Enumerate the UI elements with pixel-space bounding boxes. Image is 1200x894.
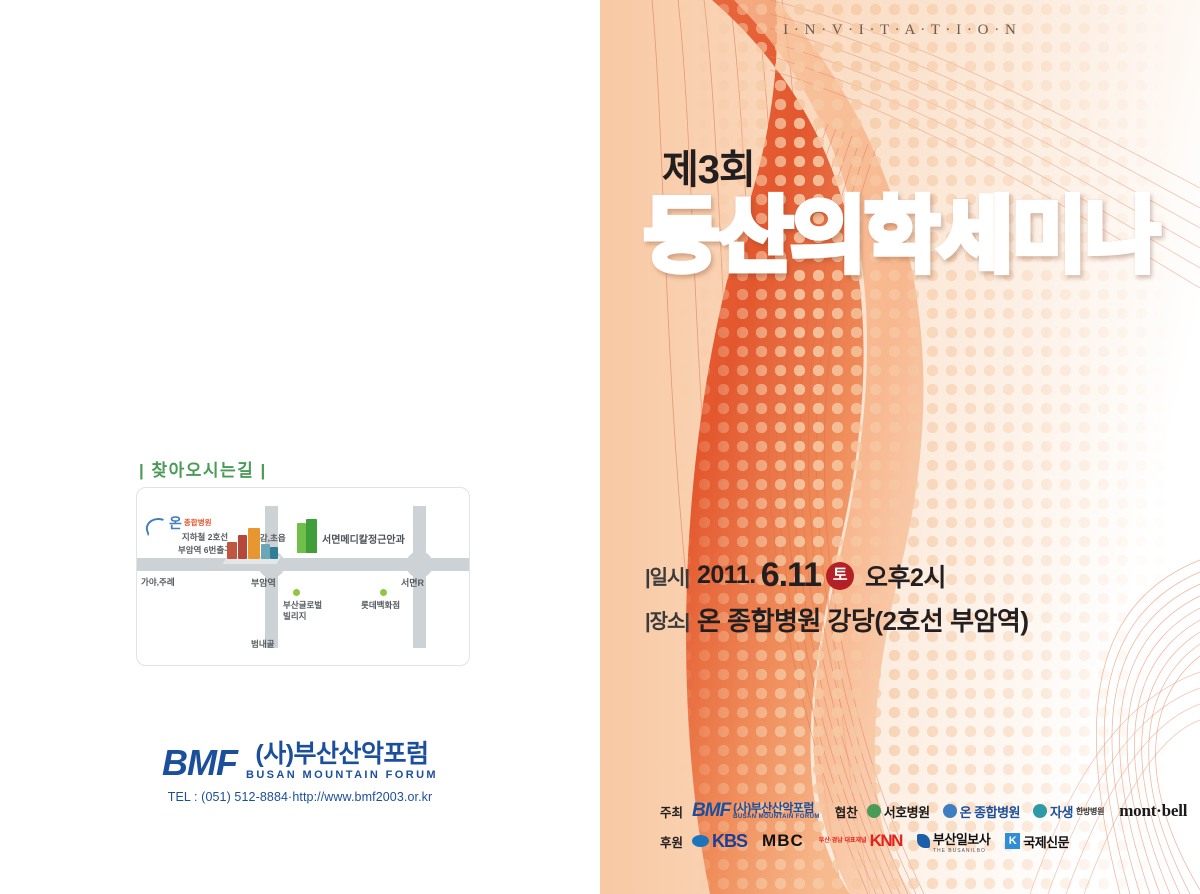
logo-bmf-kr: (사)부산산악포럼 <box>733 802 820 814</box>
event-date-line: |일시| 2011. 6.11 토 오후2시 <box>645 556 1200 595</box>
poi-label-lotte: 롯데백화점 <box>361 600 400 611</box>
logo-knn: 부산·경남 대표재널 KNN <box>819 831 902 851</box>
halftone-dot-pattern <box>600 0 1200 894</box>
event-year: 2011. <box>697 561 756 590</box>
event-date-value: 2011. 6.11 토 오후2시 <box>697 556 946 595</box>
swoosh-icon <box>145 516 167 530</box>
logo-mbc: MBC <box>762 831 804 851</box>
intersection-seomyeon <box>406 551 433 578</box>
logo-busanilbo-sub: THE BUSANILBO <box>933 848 990 854</box>
logo-bmf: BMF (사)부산산악포럼 BUSAN MOUNTAIN FORUM <box>692 800 820 822</box>
bmf-mark: BMF <box>162 745 237 781</box>
bmf-name-en: BUSAN MOUNTAIN FORUM <box>246 770 438 781</box>
logo-bmf-en: BUSAN MOUNTAIN FORUM <box>733 814 820 820</box>
poi-label-eye-clinic: 서면메디칼정근안과 <box>322 531 405 546</box>
hospital-logo-name: 온 <box>169 516 182 530</box>
kookje-k-icon: K <box>1005 833 1020 849</box>
bmf-logo: BMF (사)부산산악포럼 BUSAN MOUNTAIN FORUM <box>162 742 438 781</box>
event-date-label: |일시| <box>645 561 689 590</box>
logo-kbs: KBS <box>692 831 747 852</box>
location-map: 당감,초읍 가야,주례 부암역 서면R 범내골 부산글로벌 빌리지 롯데백화점 … <box>136 487 470 666</box>
logo-seoho-name: 서호병원 <box>884 802 930 821</box>
poi-label-busan-global-line2: 빌리지 <box>283 611 322 622</box>
green-building-icon <box>297 519 317 553</box>
logo-seoho: 서호병원 <box>867 802 930 821</box>
support-label: 후원 <box>660 832 683 851</box>
map-label-center: 부암역 <box>251 576 276 589</box>
poi-marker-busan-global <box>293 589 300 596</box>
back-cover-footer: BMF (사)부산산악포럼 BUSAN MOUNTAIN FORUM TEL :… <box>0 742 600 804</box>
hospital-logo-sub: 종합병원 <box>184 519 212 527</box>
poi-label-busan-global-line1: 부산글로벌 <box>283 600 322 611</box>
bmf-contact: TEL : (051) 512-8884·http://www.bmf2003.… <box>0 790 600 804</box>
logo-kbs-name: KBS <box>712 831 747 852</box>
bmf-names: (사)부산산악포럼 BUSAN MOUNTAIN FORUM <box>246 742 438 781</box>
on-swoosh-icon <box>943 804 957 818</box>
logo-busanilbo: 부산일보사 THE BUSANILBO <box>917 829 990 854</box>
kbs-oval-icon <box>692 835 709 847</box>
busanilbo-mark-icon <box>917 834 930 848</box>
seoho-leaf-icon <box>867 804 881 818</box>
logo-knn-sub: 부산·경남 대표재널 <box>819 838 867 844</box>
directions-heading: | 찾아오시는길 | <box>139 456 267 481</box>
logo-jaseng-name: 자생 <box>1050 802 1073 821</box>
event-time: 오후2시 <box>865 558 946 594</box>
event-place-value: 온 종합병원 강당(2호선 부암역) <box>697 601 1029 638</box>
logo-kookje-name: 국제신문 <box>1023 832 1069 851</box>
map-label-west: 가야,주례 <box>141 576 175 588</box>
logo-montbell: mont·bell <box>1119 801 1187 821</box>
brochure-sheet: | 찾아오시는길 | 당감,초읍 가야,주례 부암역 서면R 범내골 부산글로벌… <box>0 0 1200 894</box>
logo-busanilbo-name: 부산일보사 <box>933 829 990 848</box>
logo-kookje: K 국제신문 <box>1005 832 1069 851</box>
bmf-name-kr: (사)부산산악포럼 <box>246 742 438 767</box>
logo-bmf-mark: BMF <box>692 800 730 822</box>
event-place-line: |장소| 온 종합병원 강당(2호선 부암역) <box>645 601 1200 638</box>
event-info-block: |일시| 2011. 6.11 토 오후2시 |장소| 온 종합병원 강당(2호… <box>600 556 1200 644</box>
invitation-header: I · N · V · I · T · A · T · I · O · N <box>620 22 1180 39</box>
cover-title-block: 제3회 등산의학세미나 <box>600 150 1200 280</box>
logo-jaseng: 자생 한방병원 <box>1033 802 1104 821</box>
jaseng-icon <box>1033 804 1047 818</box>
logo-jaseng-sub: 한방병원 <box>1076 806 1104 817</box>
map-label-south: 범내골 <box>251 638 274 650</box>
title-main: 등산의학세미나 <box>644 194 1200 280</box>
back-cover-page: | 찾아오시는길 | 당감,초읍 가야,주례 부암역 서면R 범내골 부산글로벌… <box>0 0 600 894</box>
partner-label: 협찬 <box>835 802 858 821</box>
poi-label-busan-global: 부산글로벌 빌리지 <box>283 600 322 622</box>
poi-marker-lotte <box>380 589 387 596</box>
weekday-badge: 토 <box>826 562 854 590</box>
buildings-cluster-icon <box>225 524 281 564</box>
logo-on-hospital: 온 종합병원 <box>943 802 1020 821</box>
logo-knn-name: KNN <box>870 831 902 851</box>
title-edition: 제3회 <box>662 150 1200 190</box>
sponsor-row-host: 주최 BMF (사)부산산악포럼 BUSAN MOUNTAIN FORUM 협찬… <box>660 796 1200 826</box>
logo-busanilbo-text: 부산일보사 THE BUSANILBO <box>933 829 990 854</box>
sponsor-row-support: 후원 KBS MBC 부산·경남 대표재널 KNN 부산일보사 THE BUSA… <box>660 826 1200 856</box>
sponsor-strip: 주최 BMF (사)부산산악포럼 BUSAN MOUNTAIN FORUM 협찬… <box>600 796 1200 856</box>
event-daymonth: 6.11 <box>761 556 821 595</box>
logo-on-hospital-name: 온 종합병원 <box>960 802 1020 821</box>
logo-bmf-text: (사)부산산악포럼 BUSAN MOUNTAIN FORUM <box>733 802 820 820</box>
event-place-label: |장소| <box>645 605 689 634</box>
map-label-east: 서면R <box>401 576 424 589</box>
front-cover-page: I · N · V · I · T · A · T · I · O · N 제3… <box>600 0 1200 894</box>
host-label: 주최 <box>660 802 683 821</box>
